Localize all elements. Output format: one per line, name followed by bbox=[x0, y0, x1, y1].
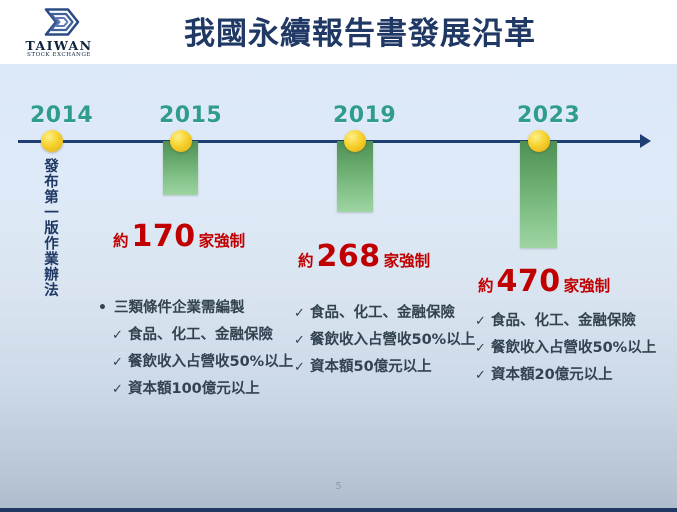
bullet-dot-icon: • bbox=[98, 295, 114, 322]
taiwan-stock-exchange-logo: TAIWAN STOCK EXCHANGE bbox=[14, 6, 104, 60]
list-item-label: 餐飲收入占營收50%以上 bbox=[491, 335, 656, 362]
list-item: ✓ 食品、化工、金融保險 bbox=[475, 308, 656, 335]
bullet-list-2015: • 三類條件企業需編製 ✓ 食品、化工、金融保險 ✓ 餐飲收入占營收50%以上 … bbox=[98, 295, 293, 403]
callout-suffix: 家強制 bbox=[199, 232, 246, 250]
list-item: ✓ 餐飲收入占營收50%以上 bbox=[98, 349, 293, 376]
check-icon: ✓ bbox=[294, 300, 310, 327]
timeline-dot-2015 bbox=[170, 130, 192, 152]
list-item-label: 食品、化工、金融保險 bbox=[128, 322, 273, 349]
bullet-list-2023: ✓ 食品、化工、金融保險 ✓ 餐飲收入占營收50%以上 ✓ 資本額20億元以上 bbox=[475, 308, 656, 389]
callout-number: 470 bbox=[497, 264, 561, 299]
list-item-label: 餐飲收入占營收50%以上 bbox=[310, 327, 475, 354]
bullet-list-2019: ✓ 食品、化工、金融保險 ✓ 餐飲收入占營收50%以上 ✓ 資本額50億元以上 bbox=[294, 300, 475, 381]
check-icon: ✓ bbox=[475, 335, 491, 362]
milestone-caption-2014: 發布第一版作業辦法 bbox=[36, 158, 58, 298]
timeline-dot-2023 bbox=[528, 130, 550, 152]
callout-number: 170 bbox=[132, 219, 196, 254]
check-icon: ✓ bbox=[294, 327, 310, 354]
slide-canvas: TAIWAN STOCK EXCHANGE 我國永續報告書發展沿革 2014 2… bbox=[0, 0, 677, 512]
callout-prefix: 約 bbox=[298, 252, 314, 270]
check-icon: ✓ bbox=[112, 376, 128, 403]
year-label-2014: 2014 bbox=[30, 103, 93, 128]
callout-suffix: 家強制 bbox=[384, 252, 431, 270]
callout-number: 268 bbox=[317, 239, 381, 274]
timeline-dot-2019 bbox=[344, 130, 366, 152]
callout-suffix: 家強制 bbox=[564, 277, 611, 295]
check-icon: ✓ bbox=[475, 308, 491, 335]
list-item: ✓ 食品、化工、金融保險 bbox=[98, 322, 293, 349]
year-label-2019: 2019 bbox=[333, 103, 396, 128]
list-item-label: 三類條件企業需編製 bbox=[114, 295, 245, 322]
check-icon: ✓ bbox=[112, 349, 128, 376]
list-item: ✓ 餐飲收入占營收50%以上 bbox=[294, 327, 475, 354]
list-item: ✓ 食品、化工、金融保險 bbox=[294, 300, 475, 327]
list-item-label: 食品、化工、金融保險 bbox=[491, 308, 636, 335]
list-item-label: 資本額20億元以上 bbox=[491, 362, 613, 389]
bottom-rule bbox=[0, 508, 677, 512]
callout-prefix: 約 bbox=[478, 277, 494, 295]
list-item-label: 食品、化工、金融保險 bbox=[310, 300, 455, 327]
callout-2019: 約268家強制 bbox=[298, 239, 430, 274]
list-item: ✓ 資本額50億元以上 bbox=[294, 354, 475, 381]
list-item-label: 資本額100億元以上 bbox=[128, 376, 260, 403]
list-item: ✓ 資本額100億元以上 bbox=[98, 376, 293, 403]
list-item-label: 餐飲收入占營收50%以上 bbox=[128, 349, 293, 376]
milestone-bar-2023 bbox=[520, 141, 557, 248]
timeline-dot-2014 bbox=[41, 130, 63, 152]
arrow-right-icon bbox=[640, 134, 651, 148]
year-label-2015: 2015 bbox=[159, 103, 222, 128]
callout-prefix: 約 bbox=[113, 232, 129, 250]
page-number: 5 bbox=[0, 481, 677, 492]
check-icon: ✓ bbox=[475, 362, 491, 389]
callout-2023: 約470家強制 bbox=[478, 264, 610, 299]
hexagon-spiral-icon bbox=[36, 6, 82, 38]
list-item: • 三類條件企業需編製 bbox=[98, 295, 293, 322]
logo-name: TAIWAN bbox=[14, 39, 104, 52]
list-item-label: 資本額50億元以上 bbox=[310, 354, 432, 381]
year-label-2023: 2023 bbox=[517, 103, 580, 128]
page-title: 我國永續報告書發展沿革 bbox=[110, 8, 610, 53]
check-icon: ✓ bbox=[112, 322, 128, 349]
callout-2015: 約170家強制 bbox=[113, 219, 245, 254]
check-icon: ✓ bbox=[294, 354, 310, 381]
list-item: ✓ 餐飲收入占營收50%以上 bbox=[475, 335, 656, 362]
list-item: ✓ 資本額20億元以上 bbox=[475, 362, 656, 389]
slide-header: TAIWAN STOCK EXCHANGE 我國永續報告書發展沿革 bbox=[0, 0, 677, 64]
logo-subtitle: STOCK EXCHANGE bbox=[14, 52, 104, 59]
